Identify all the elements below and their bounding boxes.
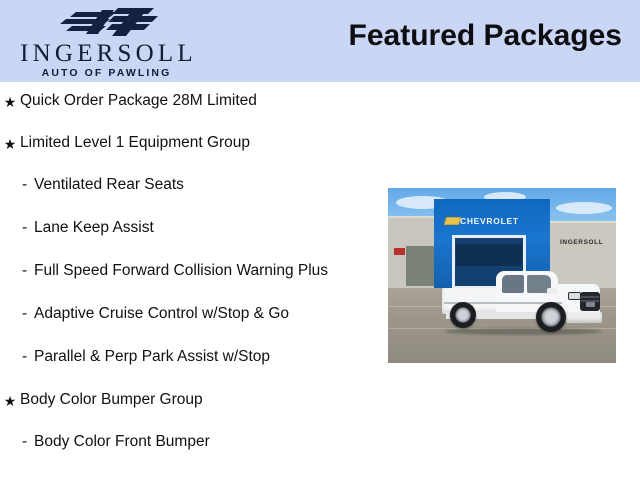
dash-bullet-icon: - bbox=[22, 304, 34, 324]
header-banner: INGERSOLL AUTO OF PAWLING Featured Packa… bbox=[0, 0, 640, 82]
list-item: - Body Color Front Bumper bbox=[0, 432, 380, 452]
list-item: ★ Body Color Bumper Group bbox=[0, 390, 380, 411]
list-item-label: Parallel & Perp Park Assist w/Stop bbox=[34, 347, 270, 367]
logo-wordmark: INGERSOLL bbox=[6, 40, 211, 67]
dash-bullet-icon: - bbox=[22, 261, 34, 281]
truck-grille-bar bbox=[581, 296, 599, 298]
star-bullet-icon: ★ bbox=[0, 390, 20, 411]
truck-ram-badge bbox=[586, 302, 595, 307]
truck-shadow bbox=[444, 328, 602, 335]
list-item: ★ Quick Order Package 28M Limited bbox=[0, 91, 380, 112]
truck-front-rim bbox=[541, 307, 561, 327]
logo-tagline: AUTO OF PAWLING bbox=[6, 67, 207, 79]
dash-bullet-icon: - bbox=[22, 218, 34, 238]
photo-cloud bbox=[556, 202, 612, 214]
list-item-label: Ventilated Rear Seats bbox=[34, 175, 184, 195]
chevrolet-bowtie-icon bbox=[444, 217, 461, 225]
ram-truck-illustration bbox=[440, 262, 604, 346]
dash-bullet-icon: - bbox=[22, 175, 34, 195]
star-bullet-icon: ★ bbox=[0, 133, 20, 154]
list-item-label: Limited Level 1 Equipment Group bbox=[20, 133, 250, 153]
truck-rear-rim bbox=[455, 307, 471, 323]
truck-front-bumper bbox=[566, 312, 602, 323]
featured-packages-list: ★ Quick Order Package 28M Limited ★ Limi… bbox=[0, 82, 380, 475]
list-item: - Parallel & Perp Park Assist w/Stop bbox=[0, 347, 380, 367]
star-bullet-icon: ★ bbox=[0, 91, 20, 112]
ingersoll-winged-emblem-icon bbox=[54, 6, 164, 38]
dash-bullet-icon: - bbox=[22, 347, 34, 367]
list-item-label: Adaptive Cruise Control w/Stop & Go bbox=[34, 304, 289, 324]
truck-headlight bbox=[568, 292, 581, 300]
list-item-label: Body Color Bumper Group bbox=[20, 390, 203, 410]
vehicle-photo[interactable]: INGERSOLL CHEVROLET bbox=[388, 188, 616, 363]
photo-chevrolet-sign: CHEVROLET bbox=[460, 216, 519, 226]
list-item: - Lane Keep Assist bbox=[0, 218, 380, 238]
list-item: - Full Speed Forward Collision Warning P… bbox=[0, 261, 380, 281]
dealer-logo[interactable]: INGERSOLL AUTO OF PAWLING bbox=[6, 4, 211, 80]
dash-bullet-icon: - bbox=[22, 432, 34, 452]
photo-showroom-glass bbox=[406, 246, 434, 286]
list-item-label: Body Color Front Bumper bbox=[34, 432, 210, 452]
list-item-label: Lane Keep Assist bbox=[34, 218, 154, 238]
list-item: - Adaptive Cruise Control w/Stop & Go bbox=[0, 304, 380, 324]
list-item-label: Quick Order Package 28M Limited bbox=[20, 91, 257, 111]
list-item-label: Full Speed Forward Collision Warning Plu… bbox=[34, 261, 328, 281]
page-title: Featured Packages bbox=[349, 19, 622, 53]
photo-ingersoll-sign: INGERSOLL bbox=[560, 239, 603, 246]
list-item: - Ventilated Rear Seats bbox=[0, 175, 380, 195]
truck-rear-window bbox=[502, 275, 524, 293]
list-item: ★ Limited Level 1 Equipment Group bbox=[0, 133, 380, 154]
truck-mirror bbox=[547, 288, 557, 294]
photo-red-door bbox=[394, 248, 405, 255]
